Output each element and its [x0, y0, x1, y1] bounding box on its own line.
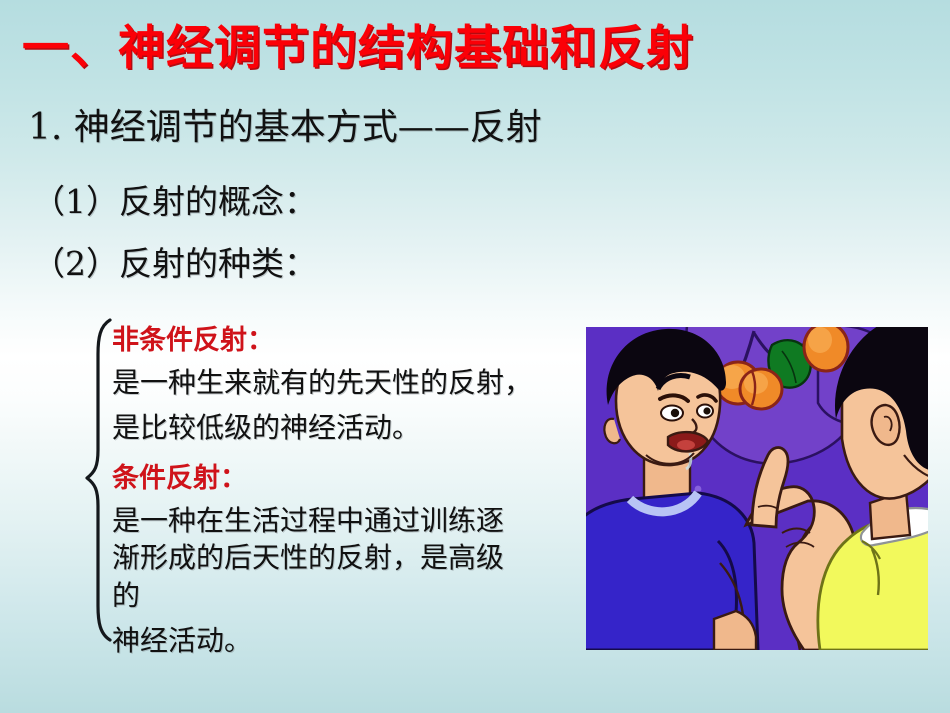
conditioned-reflex-line-1: 是一种在生活过程中通过训练逐: [112, 498, 582, 543]
illustration-image: [586, 327, 928, 650]
cartoon-scene-graphic: [586, 327, 928, 650]
unconditioned-reflex-line-1: 是一种生来就有的先天性的反射，: [112, 360, 582, 405]
conditioned-reflex-line-2: 渐形成的后天性的反射，是高级: [112, 543, 582, 573]
conditioned-reflex-label: 条件反射：: [112, 460, 582, 498]
bullet-point-1: （1）反射的概念：: [32, 181, 317, 223]
unconditioned-reflex-line-2: 是比较低级的神经活动。: [112, 405, 582, 450]
subheading: 1. 神经调节的基本方式——反射: [28, 105, 542, 151]
conditioned-reflex-line-4: 神经活动。: [112, 618, 582, 663]
unconditioned-reflex-label: 非条件反射：: [112, 322, 582, 360]
conditioned-reflex-group: 条件反射： 是一种在生活过程中通过训练逐 渐形成的后天性的反射，是高级 的 神经…: [112, 460, 582, 663]
reflex-definitions: 非条件反射： 是一种生来就有的先天性的反射， 是比较低级的神经活动。 条件反射：…: [112, 322, 582, 663]
unconditioned-reflex-group: 非条件反射： 是一种生来就有的先天性的反射， 是比较低级的神经活动。: [112, 322, 582, 450]
slide-canvas: 一、神经调节的结构基础和反射 1. 神经调节的基本方式——反射 （1）反射的概念…: [0, 0, 950, 713]
page-title: 一、神经调节的结构基础和反射: [22, 21, 694, 77]
bullet-point-2: （2）反射的种类：: [32, 243, 317, 285]
conditioned-reflex-line-3: 的: [112, 573, 582, 618]
